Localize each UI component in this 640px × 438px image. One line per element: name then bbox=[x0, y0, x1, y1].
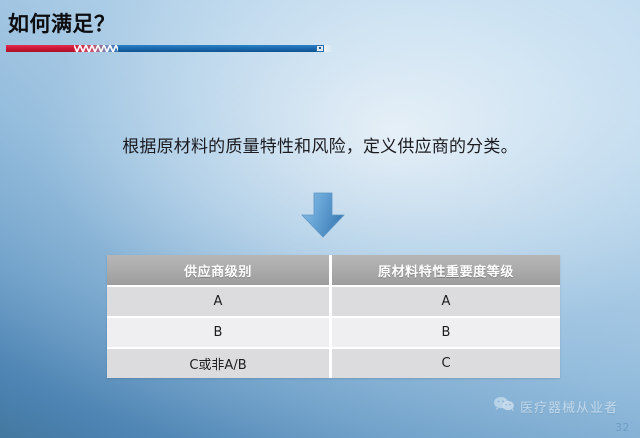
column-header-supplier-level: 供应商级别 bbox=[107, 255, 332, 287]
rule-fade-tail bbox=[324, 45, 334, 52]
watermark-label: 医疗器械从业者 bbox=[520, 397, 618, 416]
rule-end-marker bbox=[316, 45, 324, 52]
cell-supplier-level: A bbox=[107, 287, 332, 318]
table-row: C或非A/B C bbox=[107, 349, 560, 378]
cell-supplier-level: C或非A/B bbox=[107, 349, 332, 378]
title-decorative-rule bbox=[6, 44, 324, 53]
rule-blue-segment bbox=[118, 45, 324, 52]
table-row: B B bbox=[107, 318, 560, 349]
page-title: 如何满足？ bbox=[8, 10, 116, 38]
watermark: 医疗器械从业者 bbox=[493, 396, 618, 416]
rule-red-segment bbox=[6, 45, 78, 52]
lead-statement: 根据原材料的质量特性和风险，定义供应商的分类。 bbox=[0, 134, 640, 160]
supplier-classification-table: 供应商级别 原材料特性重要度等级 A A B B C或非A/B C bbox=[107, 255, 560, 378]
wechat-logo-icon bbox=[493, 396, 515, 416]
table-header-row: 供应商级别 原材料特性重要度等级 bbox=[107, 255, 560, 287]
table-row: A A bbox=[107, 287, 560, 318]
slide-canvas: 如何满足？ 根据原材料的质量特性和风险，定义供应商的分类。 bbox=[0, 0, 640, 438]
cell-supplier-level: B bbox=[107, 318, 332, 349]
page-number: 32 bbox=[615, 421, 630, 434]
cell-material-grade: A bbox=[332, 287, 560, 318]
cell-material-grade: C bbox=[332, 349, 560, 378]
column-header-material-importance: 原材料特性重要度等级 bbox=[332, 255, 560, 287]
down-arrow-icon bbox=[299, 192, 347, 238]
rule-zigzag-segment bbox=[74, 45, 122, 52]
cell-material-grade: B bbox=[332, 318, 560, 349]
